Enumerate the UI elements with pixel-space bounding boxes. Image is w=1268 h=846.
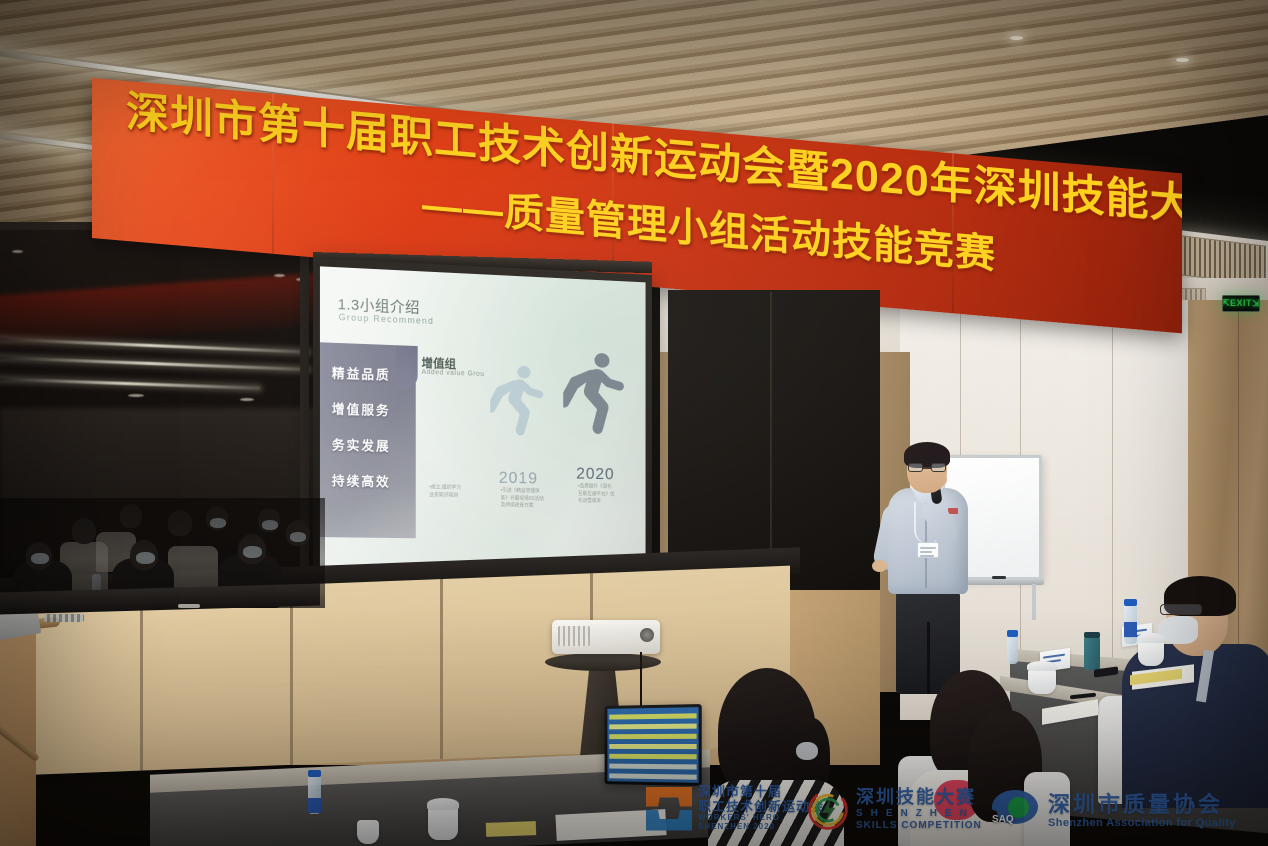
judge-body-right (1122, 644, 1268, 808)
whiteboard-marker (992, 576, 1006, 579)
stage-panel-seam-2 (290, 585, 293, 765)
sticky-note-front (486, 821, 536, 837)
water-bottle-cap-left-table (1007, 630, 1018, 637)
thermos-lid (1084, 632, 1100, 638)
badge-line-1 (920, 547, 936, 549)
reflection-spot-4 (128, 394, 144, 397)
ceiling-downlight-2 (1176, 58, 1189, 62)
presenter-name-badge (917, 542, 939, 558)
slide-year-2020: 2020 (576, 464, 614, 484)
watermark-workers-hero: 深圳市第十届 职工技术创新运动会 WORKERS' HERO SHENZHEN … (646, 785, 824, 832)
glasses-icon (908, 463, 946, 472)
ceiling-reflection-3 (0, 377, 260, 389)
spreadsheet-row-2 (609, 724, 696, 730)
dark-wall-seam (770, 292, 772, 588)
reflection-spot-1 (12, 250, 23, 253)
reflection-spot-2 (274, 274, 285, 277)
slide-keyword-1: 增值服务 (332, 399, 391, 420)
projection-screen-surface: 1.3小组介绍 Group Recommend 精益品质 增值服务 务实发展 持… (320, 266, 646, 571)
whiteboard-leg-right (1032, 584, 1036, 620)
spreadsheet-row-5 (609, 754, 696, 760)
laptop (605, 704, 702, 786)
skills-competition-en-2: SKILLS COMPETITION (856, 820, 982, 832)
exit-icon: ⇱EXIT⇲ (1222, 298, 1260, 309)
spreadsheet-row-1 (609, 713, 696, 719)
tea-mug-lid (427, 798, 459, 810)
skills-competition-en-1: S H E N Z H E N (856, 808, 982, 820)
badge-line-3 (920, 555, 934, 557)
spreadsheet-row-3 (609, 734, 696, 739)
laptop-display (607, 707, 698, 783)
desk-phone (178, 604, 200, 608)
skills-ring-icon (806, 788, 850, 832)
slide-keyword-0: 精益品质 (332, 363, 391, 384)
projector-lens (640, 628, 654, 642)
skills-competition-cn: 深圳技能大赛 (856, 787, 982, 808)
water-bottle-label-front (308, 798, 321, 813)
banner-reflection (0, 271, 322, 348)
saq-abbr: SAQ (992, 814, 1014, 825)
name-card-text-1 (1043, 654, 1065, 659)
presenter-shirt-logo (948, 508, 958, 514)
ceiling-downlight-1 (1010, 36, 1023, 40)
tea-cup-left-table (1028, 668, 1056, 694)
slide-note-1: •引进《精益管理体 系》开展现场5S活动 及持续改善方案 (501, 488, 555, 511)
tea-cup-lid-left-table (1027, 661, 1057, 671)
watermark-skills-competition: 深圳技能大赛 S H E N Z H E N SKILLS COMPETITIO… (806, 787, 982, 832)
saq-cn: 深圳市质量协会 (1048, 792, 1236, 817)
workers-hero-icon (646, 786, 692, 832)
ceiling-reflection-2 (0, 356, 310, 371)
judge-navy-polo (1150, 578, 1268, 808)
presenter-left-hand (872, 560, 887, 572)
small-cup (357, 820, 379, 844)
wall-panel-seam-2 (1112, 300, 1113, 700)
stage-panel-seam-3 (440, 579, 443, 759)
reflection-spot-5 (240, 398, 254, 401)
glasses-bridge (923, 467, 931, 469)
badge-line-2 (920, 551, 932, 553)
ceiling-reflection-1 (0, 337, 310, 353)
slide-note-0: •成立,组织学习 业务知识培训 (429, 484, 484, 500)
saq-icon: SAQ (992, 790, 1042, 832)
photograph-scene: ⇱EXIT⇲ EXIT 深圳市第十届职工技术创新运动会暨2020年深圳技能大赛 … (0, 0, 1268, 846)
stage-panel-seam-1 (140, 591, 143, 771)
tea-cup-lid-right (1137, 633, 1165, 643)
slide-year-2019: 2019 (499, 468, 538, 488)
runner-silhouette-2020 (563, 344, 625, 456)
skills-competition-icon (806, 788, 850, 832)
slide-keyword-panel-tab (396, 345, 417, 389)
water-bottle-cap-front (308, 770, 321, 777)
spreadsheet-row-4 (609, 744, 696, 749)
workers-hero-icon-top (646, 787, 692, 807)
thermos-flask (1084, 636, 1100, 670)
projector-vent (558, 626, 590, 646)
tea-cup-right (1138, 640, 1164, 666)
spreadsheet-row-6 (609, 764, 696, 770)
judge-glasses-right (1160, 604, 1202, 615)
slide-note-2: •品质提升《深化 互联互通平台》优 化运营成本 (578, 483, 631, 506)
spreadsheet-row-7 (609, 773, 696, 779)
glasses-lens-left (908, 463, 923, 472)
skills-competition-text-block: 深圳技能大赛 S H E N Z H E N SKILLS COMPETITIO… (856, 787, 982, 832)
slide-keyword-3: 持续高效 (332, 470, 391, 490)
desk-items (44, 614, 84, 622)
dark-wall-right-of-screen (668, 290, 880, 590)
saq-text-block: 深圳市质量协会 Shenzhen Association for Quality (1048, 792, 1236, 830)
water-bottle-cap-right (1124, 599, 1137, 606)
watermark-saq: SAQ 深圳市质量协会 Shenzhen Association for Qua… (992, 790, 1236, 832)
projection-screen: 1.3小组介绍 Group Recommend 精益品质 增值服务 务实发展 持… (313, 258, 652, 585)
presenter (884, 446, 980, 696)
slide-keyword-2: 务实发展 (332, 434, 391, 454)
exit-sign-right: ⇱EXIT⇲ (1222, 295, 1260, 312)
glasses-lens-right (931, 463, 946, 472)
tea-mug (428, 806, 458, 840)
attendee-mask-1 (796, 742, 818, 760)
saq-en: Shenzhen Association for Quality (1048, 817, 1236, 830)
workers-hero-icon-bottom (646, 810, 692, 831)
runner-silhouette-2019 (490, 359, 544, 454)
water-bottle-label-right (1124, 622, 1137, 637)
presentation-slide: 1.3小组介绍 Group Recommend 精益品质 增值服务 务实发展 持… (320, 266, 646, 571)
slide-group-name-en: Added value Grou (422, 369, 485, 378)
